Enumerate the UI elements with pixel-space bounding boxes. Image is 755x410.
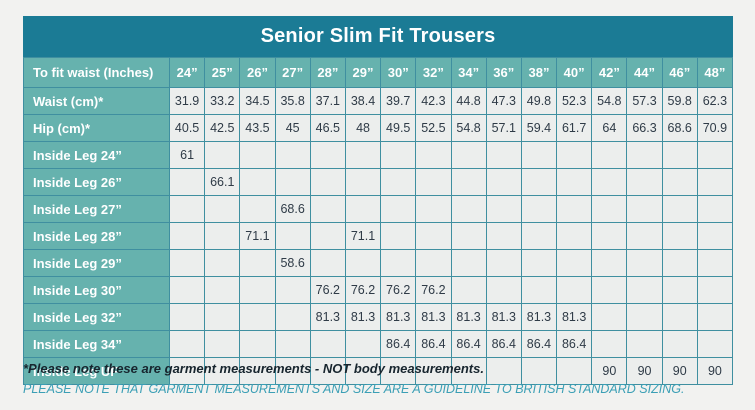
table-cell [663, 169, 697, 195]
table-cell [240, 277, 274, 303]
table-cell [522, 250, 556, 276]
table-cell: 58.6 [276, 250, 310, 276]
size-chart-table: To fit waist (Inches) 24”25”26”27”28”29”… [23, 57, 733, 385]
table-row: Inside Leg 34”86.486.486.486.486.486.4 [24, 331, 732, 357]
table-cell: 86.4 [487, 331, 521, 357]
table-cell [416, 250, 450, 276]
table-cell [698, 250, 732, 276]
table-cell [698, 142, 732, 168]
table-cell: 42.5 [205, 115, 239, 141]
row-header-measurement: Inside Leg 28” [24, 223, 169, 249]
table-cell [311, 250, 345, 276]
row-header-measurement: Inside Leg 29” [24, 250, 169, 276]
table-cell [205, 196, 239, 222]
table-cell: 59.4 [522, 115, 556, 141]
table-cell [557, 250, 591, 276]
table-cell [487, 250, 521, 276]
table-cell [663, 142, 697, 168]
table-cell: 57.3 [627, 88, 661, 114]
table-cell: 66.1 [205, 169, 239, 195]
table-cell: 43.5 [240, 115, 274, 141]
table-cell: 37.1 [311, 88, 345, 114]
table-cell [452, 223, 486, 249]
table-cell [452, 169, 486, 195]
table-row: Waist (cm)*31.933.234.535.837.138.439.74… [24, 88, 732, 114]
row-header-measurement: Hip (cm)* [24, 115, 169, 141]
table-cell [346, 250, 380, 276]
table-cell [205, 277, 239, 303]
table-cell [170, 169, 204, 195]
table-cell [170, 223, 204, 249]
table-cell: 35.8 [276, 88, 310, 114]
table-cell [240, 142, 274, 168]
table-cell: 76.2 [346, 277, 380, 303]
column-header-size: 44” [627, 58, 661, 87]
table-cell: 38.4 [346, 88, 380, 114]
table-cell [627, 196, 661, 222]
table-cell [592, 142, 626, 168]
table-cell: 81.3 [416, 304, 450, 330]
size-chart-page: Senior Slim Fit Trousers To fit waist (I… [0, 0, 755, 410]
column-header-size: 48” [698, 58, 732, 87]
table-row: Hip (cm)*40.542.543.54546.54849.552.554.… [24, 115, 732, 141]
table-cell [416, 169, 450, 195]
column-header-size: 28” [311, 58, 345, 87]
table-cell [205, 250, 239, 276]
table-cell: 40.5 [170, 115, 204, 141]
table-cell [663, 277, 697, 303]
table-cell [346, 331, 380, 357]
table-cell [205, 304, 239, 330]
table-cell: 86.4 [522, 331, 556, 357]
table-cell [381, 223, 415, 249]
table-cell: 76.2 [381, 277, 415, 303]
table-cell: 48 [346, 115, 380, 141]
table-cell [416, 142, 450, 168]
table-cell: 52.5 [416, 115, 450, 141]
table-cell [592, 223, 626, 249]
table-cell: 81.3 [487, 304, 521, 330]
table-cell: 76.2 [416, 277, 450, 303]
table-cell: 86.4 [381, 331, 415, 357]
table-cell [346, 169, 380, 195]
table-cell [522, 196, 556, 222]
column-header-size: 38” [522, 58, 556, 87]
table-cell [592, 331, 626, 357]
table-cell [487, 169, 521, 195]
table-cell: 81.3 [381, 304, 415, 330]
row-header-measurement: Waist (cm)* [24, 88, 169, 114]
table-cell: 76.2 [311, 277, 345, 303]
column-header-size: 30” [381, 58, 415, 87]
table-cell: 45 [276, 115, 310, 141]
table-cell [276, 304, 310, 330]
table-cell [663, 331, 697, 357]
table-cell [592, 304, 626, 330]
column-header-size: 42” [592, 58, 626, 87]
column-header-size: 46” [663, 58, 697, 87]
column-header-size: 24” [170, 58, 204, 87]
table-cell [627, 223, 661, 249]
table-cell [381, 250, 415, 276]
table-cell [557, 223, 591, 249]
column-header-size: 25” [205, 58, 239, 87]
table-row: Inside Leg 27”68.6 [24, 196, 732, 222]
table-header-row: To fit waist (Inches) 24”25”26”27”28”29”… [24, 58, 732, 87]
column-header-size: 32” [416, 58, 450, 87]
table-cell: 33.2 [205, 88, 239, 114]
table-row: Inside Leg 24”61 [24, 142, 732, 168]
table-cell [240, 331, 274, 357]
table-cell [487, 196, 521, 222]
table-cell [240, 196, 274, 222]
table-cell: 66.3 [627, 115, 661, 141]
row-header-measurement: Inside Leg 34” [24, 331, 169, 357]
table-cell: 31.9 [170, 88, 204, 114]
table-cell [698, 304, 732, 330]
table-cell [346, 196, 380, 222]
table-cell [663, 196, 697, 222]
table-cell: 61 [170, 142, 204, 168]
table-cell: 46.5 [311, 115, 345, 141]
table-cell: 81.3 [346, 304, 380, 330]
table-cell: 47.3 [487, 88, 521, 114]
size-chart-container: Senior Slim Fit Trousers To fit waist (I… [23, 16, 733, 385]
table-cell: 54.8 [452, 115, 486, 141]
table-cell [240, 250, 274, 276]
table-cell [627, 331, 661, 357]
table-cell [276, 223, 310, 249]
table-cell [557, 169, 591, 195]
column-header-size: 34” [452, 58, 486, 87]
table-cell [698, 223, 732, 249]
table-cell [311, 331, 345, 357]
table-cell: 86.4 [452, 331, 486, 357]
table-cell [522, 169, 556, 195]
table-cell [487, 277, 521, 303]
table-cell [170, 277, 204, 303]
table-cell [276, 142, 310, 168]
table-cell [205, 223, 239, 249]
table-cell [381, 169, 415, 195]
table-cell: 44.8 [452, 88, 486, 114]
table-body: Waist (cm)*31.933.234.535.837.138.439.74… [24, 88, 732, 384]
table-cell: 81.3 [557, 304, 591, 330]
table-cell: 81.3 [522, 304, 556, 330]
table-cell [416, 223, 450, 249]
table-cell: 49.5 [381, 115, 415, 141]
table-cell [170, 196, 204, 222]
table-cell [170, 250, 204, 276]
table-row: Inside Leg 30”76.276.276.276.2 [24, 277, 732, 303]
table-cell: 71.1 [240, 223, 274, 249]
table-cell [522, 142, 556, 168]
table-head: To fit waist (Inches) 24”25”26”27”28”29”… [24, 58, 732, 87]
table-row: Inside Leg 26”66.1 [24, 169, 732, 195]
table-cell: 59.8 [663, 88, 697, 114]
table-cell [698, 277, 732, 303]
table-cell [592, 277, 626, 303]
table-cell [276, 277, 310, 303]
table-cell [663, 250, 697, 276]
table-cell: 54.8 [592, 88, 626, 114]
footnote-british-standard-sizing: PLEASE NOTE THAT GARMENT MEASUREMENTS AN… [23, 380, 738, 398]
column-header-size: 40” [557, 58, 591, 87]
table-cell: 71.1 [346, 223, 380, 249]
table-cell [663, 304, 697, 330]
footnote-garment-measurements: *Please note these are garment measureme… [23, 360, 738, 378]
column-header-waist-label: To fit waist (Inches) [24, 58, 169, 87]
table-cell [487, 142, 521, 168]
column-header-size: 29” [346, 58, 380, 87]
table-cell: 86.4 [557, 331, 591, 357]
table-row: Inside Leg 32”81.381.381.381.381.381.381… [24, 304, 732, 330]
table-cell [452, 277, 486, 303]
row-header-measurement: Inside Leg 26” [24, 169, 169, 195]
table-cell [170, 331, 204, 357]
table-cell: 81.3 [452, 304, 486, 330]
table-cell: 86.4 [416, 331, 450, 357]
table-cell [205, 142, 239, 168]
column-header-size: 26” [240, 58, 274, 87]
table-cell: 57.1 [487, 115, 521, 141]
table-cell [240, 304, 274, 330]
table-cell [522, 277, 556, 303]
table-cell [557, 142, 591, 168]
table-cell: 68.6 [663, 115, 697, 141]
page-title: Senior Slim Fit Trousers [23, 16, 733, 57]
table-cell [170, 304, 204, 330]
table-cell [592, 169, 626, 195]
column-header-size: 36” [487, 58, 521, 87]
table-cell [627, 250, 661, 276]
table-cell: 62.3 [698, 88, 732, 114]
table-cell: 52.3 [557, 88, 591, 114]
table-cell: 39.7 [381, 88, 415, 114]
table-cell: 64 [592, 115, 626, 141]
table-cell [240, 169, 274, 195]
table-cell: 68.6 [276, 196, 310, 222]
table-cell [311, 196, 345, 222]
table-cell [663, 223, 697, 249]
table-cell [557, 277, 591, 303]
table-cell [311, 169, 345, 195]
footnotes: *Please note these are garment measureme… [23, 360, 738, 398]
table-cell [276, 169, 310, 195]
table-cell [698, 196, 732, 222]
row-header-measurement: Inside Leg 27” [24, 196, 169, 222]
row-header-measurement: Inside Leg 24” [24, 142, 169, 168]
table-cell [627, 169, 661, 195]
page-title-text: Senior Slim Fit Trousers [261, 25, 496, 48]
table-cell [311, 142, 345, 168]
table-cell [698, 169, 732, 195]
column-header-size: 27” [276, 58, 310, 87]
table-cell [381, 196, 415, 222]
table-cell [698, 331, 732, 357]
table-cell [311, 223, 345, 249]
table-cell [627, 277, 661, 303]
table-cell [381, 142, 415, 168]
table-cell [522, 223, 556, 249]
table-cell: 49.8 [522, 88, 556, 114]
table-cell [346, 142, 380, 168]
table-cell [276, 331, 310, 357]
table-cell [487, 223, 521, 249]
table-cell [592, 250, 626, 276]
table-cell: 70.9 [698, 115, 732, 141]
table-cell [452, 196, 486, 222]
table-cell [205, 331, 239, 357]
row-header-measurement: Inside Leg 30” [24, 277, 169, 303]
table-cell [627, 304, 661, 330]
row-header-measurement: Inside Leg 32” [24, 304, 169, 330]
table-cell: 34.5 [240, 88, 274, 114]
table-cell [452, 142, 486, 168]
table-cell [557, 196, 591, 222]
table-cell: 42.3 [416, 88, 450, 114]
table-cell [627, 142, 661, 168]
table-cell [592, 196, 626, 222]
table-cell [452, 250, 486, 276]
table-cell [416, 196, 450, 222]
table-row: Inside Leg 29”58.6 [24, 250, 732, 276]
table-cell: 61.7 [557, 115, 591, 141]
table-row: Inside Leg 28”71.171.1 [24, 223, 732, 249]
table-cell: 81.3 [311, 304, 345, 330]
